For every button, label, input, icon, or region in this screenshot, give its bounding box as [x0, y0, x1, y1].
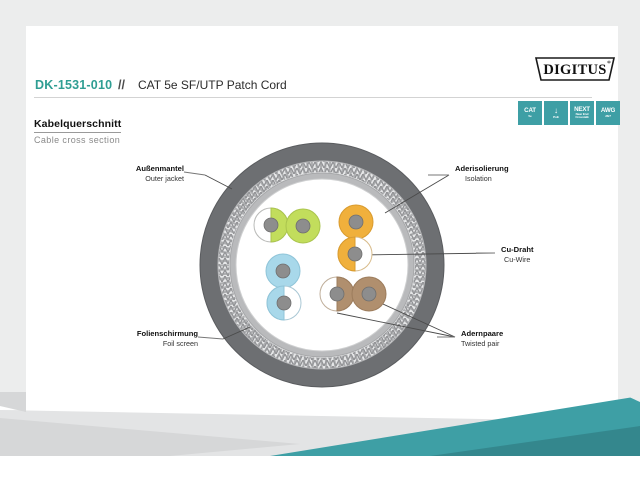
callout-outer-jacket-de: Außenmantel	[128, 164, 184, 174]
callout-foil-screen-de: Folienschirmung	[118, 329, 198, 339]
leader-outer-jacket	[205, 175, 232, 189]
deco-base	[0, 456, 640, 480]
deco-grey-1	[0, 400, 640, 410]
leader-rule-foil-screen	[198, 337, 223, 339]
callout-twisted-pair-en: Twisted pair	[461, 339, 503, 349]
callout-isolation-en: Isolation	[455, 174, 509, 184]
callout-cu-wire-de: Cu-Draht	[501, 245, 533, 255]
callout-cu-wire: Cu-Draht Cu-Wire	[501, 245, 533, 264]
callout-outer-jacket-en: Outer jacket	[128, 174, 184, 184]
slide-canvas: DIGITUS * DK-1531-010 // CAT 5e SF/UTP P…	[0, 0, 640, 480]
callout-isolation: Aderisolierung Isolation	[455, 164, 509, 183]
conductor-green-white	[264, 218, 278, 232]
conductor-brown-solid	[362, 287, 376, 301]
conductor-blue-white	[277, 296, 291, 310]
callout-foil-screen: Folienschirmung Foil screen	[118, 329, 198, 348]
callout-twisted-pair: Adernpaare Twisted pair	[461, 329, 503, 348]
layer-core	[236, 179, 408, 351]
conductor-orange-solid	[349, 215, 363, 229]
callout-foil-screen-en: Foil screen	[118, 339, 198, 349]
bottom-decoration	[0, 392, 640, 480]
callout-outer-jacket: Außenmantel Outer jacket	[128, 164, 184, 183]
callout-twisted-pair-de: Adernpaare	[461, 329, 503, 339]
callout-cu-wire-en: Cu-Wire	[501, 255, 533, 265]
conductor-blue-solid	[276, 264, 290, 278]
conductor-orange-white	[348, 247, 362, 261]
conductor-green-solid	[296, 219, 310, 233]
callout-isolation-de: Aderisolierung	[455, 164, 509, 174]
leader-rule-outer-jacket	[184, 172, 205, 175]
conductor-brown-white	[330, 287, 344, 301]
